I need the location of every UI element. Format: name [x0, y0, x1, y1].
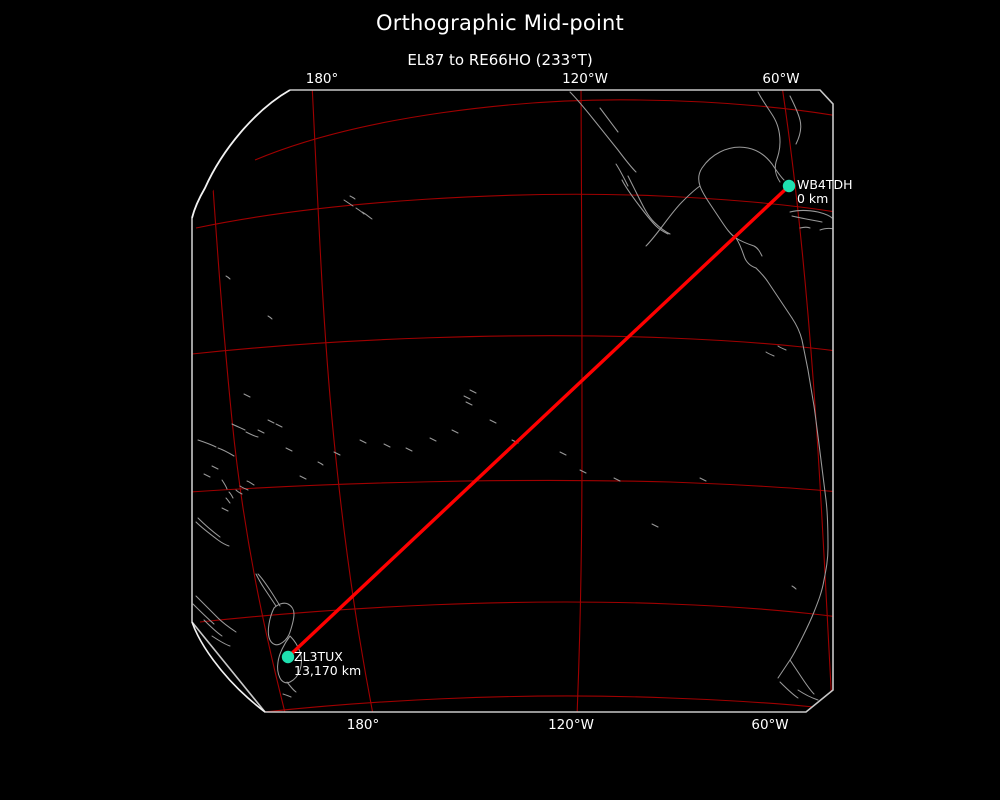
- map-background: [192, 90, 833, 712]
- marker-wb4tdh[interactable]: [783, 180, 795, 192]
- marker-zl3tux[interactable]: [282, 651, 294, 663]
- map-figure: Orthographic Mid-point EL87 to RE66HO (2…: [0, 0, 1000, 800]
- map-canvas: [0, 0, 1000, 800]
